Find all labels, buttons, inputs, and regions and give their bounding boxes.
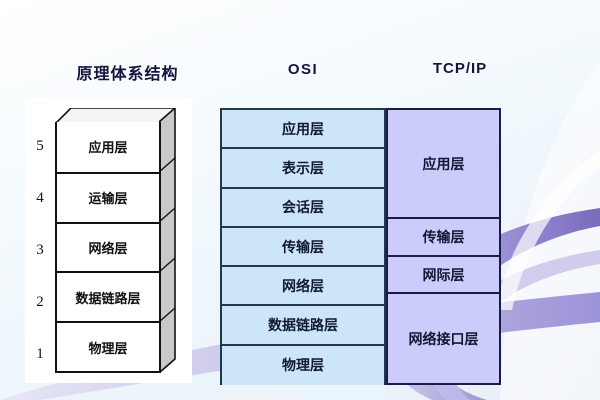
osi-layer-application: 应用层 xyxy=(222,110,384,149)
header-tcpip: TCP/IP xyxy=(390,60,530,77)
arch-layer-5: 应用层 xyxy=(57,122,159,172)
layer-number: 2 xyxy=(27,276,53,328)
osi-layer-datalink: 数据链路层 xyxy=(222,306,384,345)
slide-canvas: 原理体系结构 OSI TCP/IP 5 4 3 2 1 应用层 运输层 网络层 … xyxy=(0,0,600,400)
architecture-layer-numbers: 5 4 3 2 1 xyxy=(27,120,53,380)
layer-number: 3 xyxy=(27,224,53,276)
layer-number: 1 xyxy=(27,328,53,380)
osi-layer-transport: 传输层 xyxy=(222,228,384,267)
osi-layer-physical: 物理层 xyxy=(222,346,384,385)
arch-layer-2: 数据链路层 xyxy=(57,271,159,321)
osi-layer-presentation: 表示层 xyxy=(222,149,384,188)
decor-highlight xyxy=(496,150,600,310)
arch-layer-1: 物理层 xyxy=(57,321,159,371)
tcpip-layer-transport: 传输层 xyxy=(388,219,499,257)
layer-number: 4 xyxy=(27,172,53,224)
arch-layer-3: 网络层 xyxy=(57,222,159,272)
header-osi: OSI xyxy=(223,61,383,78)
stack-side-face xyxy=(159,108,181,373)
arch-layer-4: 运输层 xyxy=(57,172,159,222)
tcpip-layer-internet: 网际层 xyxy=(388,257,499,294)
architecture-3d-stack: 应用层 运输层 网络层 数据链路层 物理层 xyxy=(55,108,175,373)
stack-front-faces: 应用层 运输层 网络层 数据链路层 物理层 xyxy=(55,122,161,373)
osi-layer-network: 网络层 xyxy=(222,267,384,306)
layer-number: 5 xyxy=(27,120,53,172)
osi-stack: 应用层 表示层 会话层 传输层 网络层 数据链路层 物理层 xyxy=(220,108,386,385)
tcpip-layer-network-interface: 网络接口层 xyxy=(388,294,499,383)
tcpip-layer-application: 应用层 xyxy=(388,110,499,219)
header-architecture: 原理体系结构 xyxy=(40,60,215,84)
osi-layer-session: 会话层 xyxy=(222,189,384,228)
decor-glow-2 xyxy=(500,60,600,400)
tcpip-stack: 应用层 传输层 网际层 网络接口层 xyxy=(386,108,501,385)
